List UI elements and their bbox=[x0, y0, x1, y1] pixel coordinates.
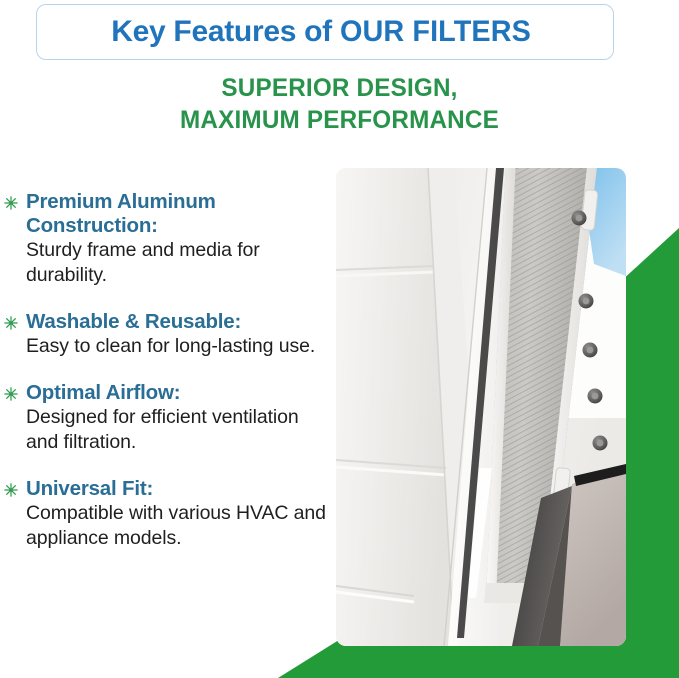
page-title-emphasis: OUR FILTERS bbox=[340, 15, 531, 49]
range-hood-aluminum-mesh-filter-photo bbox=[336, 168, 626, 646]
page-title-primary: Key Features of bbox=[111, 15, 332, 49]
green-asterisk-icon bbox=[4, 196, 18, 210]
feature-heading: Premium Aluminum Construction: bbox=[26, 190, 330, 238]
green-asterisk-icon bbox=[4, 387, 18, 401]
green-asterisk-icon bbox=[4, 483, 18, 497]
feature-heading: Universal Fit: bbox=[26, 477, 330, 501]
page-title-box: Key Features of OUR FILTERS bbox=[36, 4, 614, 60]
feature-body: Designed for efficient ventilation and f… bbox=[26, 405, 330, 455]
feature-heading: Optimal Airflow: bbox=[26, 381, 330, 405]
feature-list: Premium Aluminum Construction: Sturdy fr… bbox=[0, 190, 330, 551]
feature-heading: Washable & Reusable: bbox=[26, 310, 330, 334]
page-subtitle-line-1: SUPERIOR DESIGN, bbox=[10, 72, 669, 104]
green-asterisk-icon bbox=[4, 316, 18, 330]
feature-item-washable-reusable: Washable & Reusable: Easy to clean for l… bbox=[0, 310, 330, 359]
page-subtitle: SUPERIOR DESIGN, MAXIMUM PERFORMANCE bbox=[0, 72, 679, 136]
feature-item-premium-aluminum-construction: Premium Aluminum Construction: Sturdy fr… bbox=[0, 190, 330, 288]
feature-body: Compatible with various HVAC and applian… bbox=[26, 501, 330, 551]
feature-item-optimal-airflow: Optimal Airflow: Designed for efficient … bbox=[0, 381, 330, 455]
feature-body: Easy to clean for long-lasting use. bbox=[26, 334, 330, 359]
green-right-accent bbox=[618, 228, 679, 658]
page-subtitle-line-2: MAXIMUM PERFORMANCE bbox=[10, 104, 669, 136]
feature-item-universal-fit: Universal Fit: Compatible with various H… bbox=[0, 477, 330, 551]
feature-body: Sturdy frame and media for durability. bbox=[26, 238, 330, 288]
